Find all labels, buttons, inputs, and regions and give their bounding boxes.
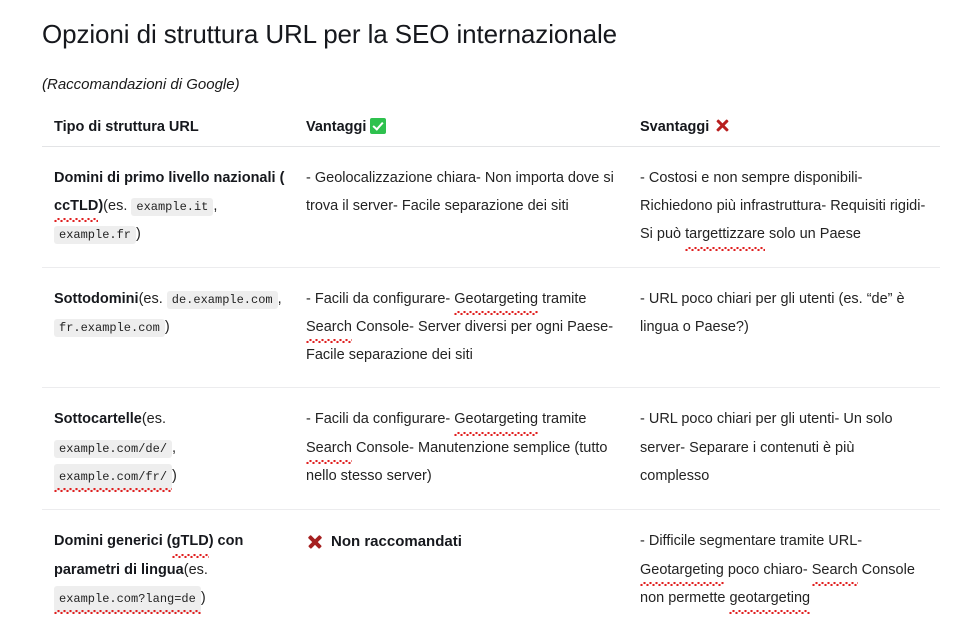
structure-type-name: Sottodomini	[54, 291, 139, 307]
column-header-pros-label: Vantaggi	[306, 119, 366, 135]
cell-pros: - Geolocalizzazione chiara- Non importa …	[304, 146, 634, 267]
code-example: example.com/de/	[54, 440, 172, 458]
comma-separator: ,	[172, 440, 176, 456]
spellcheck-word: Geotargeting	[454, 405, 538, 433]
cell-pros: - Facili da configurare- Geotargeting tr…	[304, 388, 634, 510]
code-example: example.it	[131, 198, 213, 216]
cell-pros: - Facili da configurare- Geotargeting tr…	[304, 267, 634, 388]
column-header-cons-label: Svantaggi	[640, 119, 709, 135]
url-structure-table: Tipo di struttura URL Vantaggi Svantaggi…	[42, 117, 940, 631]
cell-structure-type: Sottocartelle(es. example.com/de/, examp…	[42, 388, 304, 510]
example-prefix: (es.	[142, 411, 166, 427]
cell-cons: - Difficile segmentare tramite URL- Geot…	[634, 510, 940, 631]
pros-text: - Geolocalizzazione chiara- Non importa …	[306, 170, 614, 214]
code-example: example.com?lang=de	[54, 586, 201, 613]
structure-type-name: Sottocartelle	[54, 411, 142, 427]
cell-cons: - URL poco chiari per gli utenti (es. “d…	[634, 267, 940, 388]
code-example: example.fr	[54, 226, 136, 244]
cell-structure-type: Sottodomini(es. de.example.com, fr.examp…	[42, 267, 304, 388]
page-title: Opzioni di struttura URL per la SEO inte…	[42, 18, 922, 52]
column-header-cons: Svantaggi	[634, 117, 940, 147]
not-recommended-label: Non raccomandati	[331, 533, 462, 550]
structure-type-name: Domini generici (gTLD) con parametri di …	[54, 533, 243, 577]
comma-separator: ,	[213, 198, 217, 214]
spellcheck-word: Geotargeting	[454, 285, 538, 313]
spellcheck-word: Search	[306, 434, 352, 462]
column-header-pros: Vantaggi	[304, 117, 634, 147]
cons-text: - URL poco chiari per gli utenti (es. “d…	[640, 291, 905, 335]
cross-mark-icon	[714, 117, 731, 134]
example-suffix: )	[136, 226, 141, 242]
example-suffix: )	[165, 319, 170, 335]
table-header: Tipo di struttura URL Vantaggi Svantaggi	[42, 117, 940, 147]
example-prefix: (es.	[184, 562, 208, 578]
spellcheck-word: Geotargeting	[640, 556, 724, 584]
code-example: fr.example.com	[54, 319, 165, 337]
cell-cons: - URL poco chiari per gli utenti- Un sol…	[634, 388, 940, 510]
spellcheck-word: Search	[306, 313, 352, 341]
code-example: example.com/fr/	[54, 464, 172, 491]
table-body: Domini di primo livello nazionali (ccTLD…	[42, 146, 940, 631]
cell-cons: - Costosi e non sempre disponibili- Rich…	[634, 146, 940, 267]
example-prefix: (es.	[103, 198, 127, 214]
spellcheck-word: targettizzare	[685, 220, 765, 248]
spellcheck-word: ccTLD	[54, 192, 98, 220]
cons-text: - URL poco chiari per gli utenti- Un sol…	[640, 411, 893, 484]
table-row: Domini di primo livello nazionali (ccTLD…	[42, 146, 940, 267]
cross-mark-icon	[306, 532, 324, 550]
table-header-row: Tipo di struttura URL Vantaggi Svantaggi	[42, 117, 940, 147]
table-row: Sottocartelle(es. example.com/de/, examp…	[42, 388, 940, 510]
table-row: Domini generici (gTLD) con parametri di …	[42, 510, 940, 631]
example-suffix: )	[201, 590, 206, 606]
spellcheck-word: gTLD	[172, 527, 209, 555]
cell-pros: Non raccomandati	[304, 510, 634, 631]
table-row: Sottodomini(es. de.example.com, fr.examp…	[42, 267, 940, 388]
comma-separator: ,	[278, 291, 282, 307]
column-header-type-label: Tipo di struttura URL	[54, 119, 199, 135]
page-subtitle: (Raccomandazioni di Google)	[42, 74, 922, 95]
column-header-type: Tipo di struttura URL	[42, 117, 304, 147]
code-example: de.example.com	[167, 291, 278, 309]
cell-structure-type: Domini generici (gTLD) con parametri di …	[42, 510, 304, 631]
example-suffix: )	[172, 468, 177, 484]
cell-structure-type: Domini di primo livello nazionali (ccTLD…	[42, 146, 304, 267]
check-mark-button-icon	[370, 118, 386, 134]
spellcheck-word: geotargeting	[729, 584, 810, 612]
spellcheck-word: Search	[812, 556, 858, 584]
example-prefix: (es.	[139, 291, 163, 307]
document-page: Opzioni di struttura URL per la SEO inte…	[0, 0, 962, 631]
